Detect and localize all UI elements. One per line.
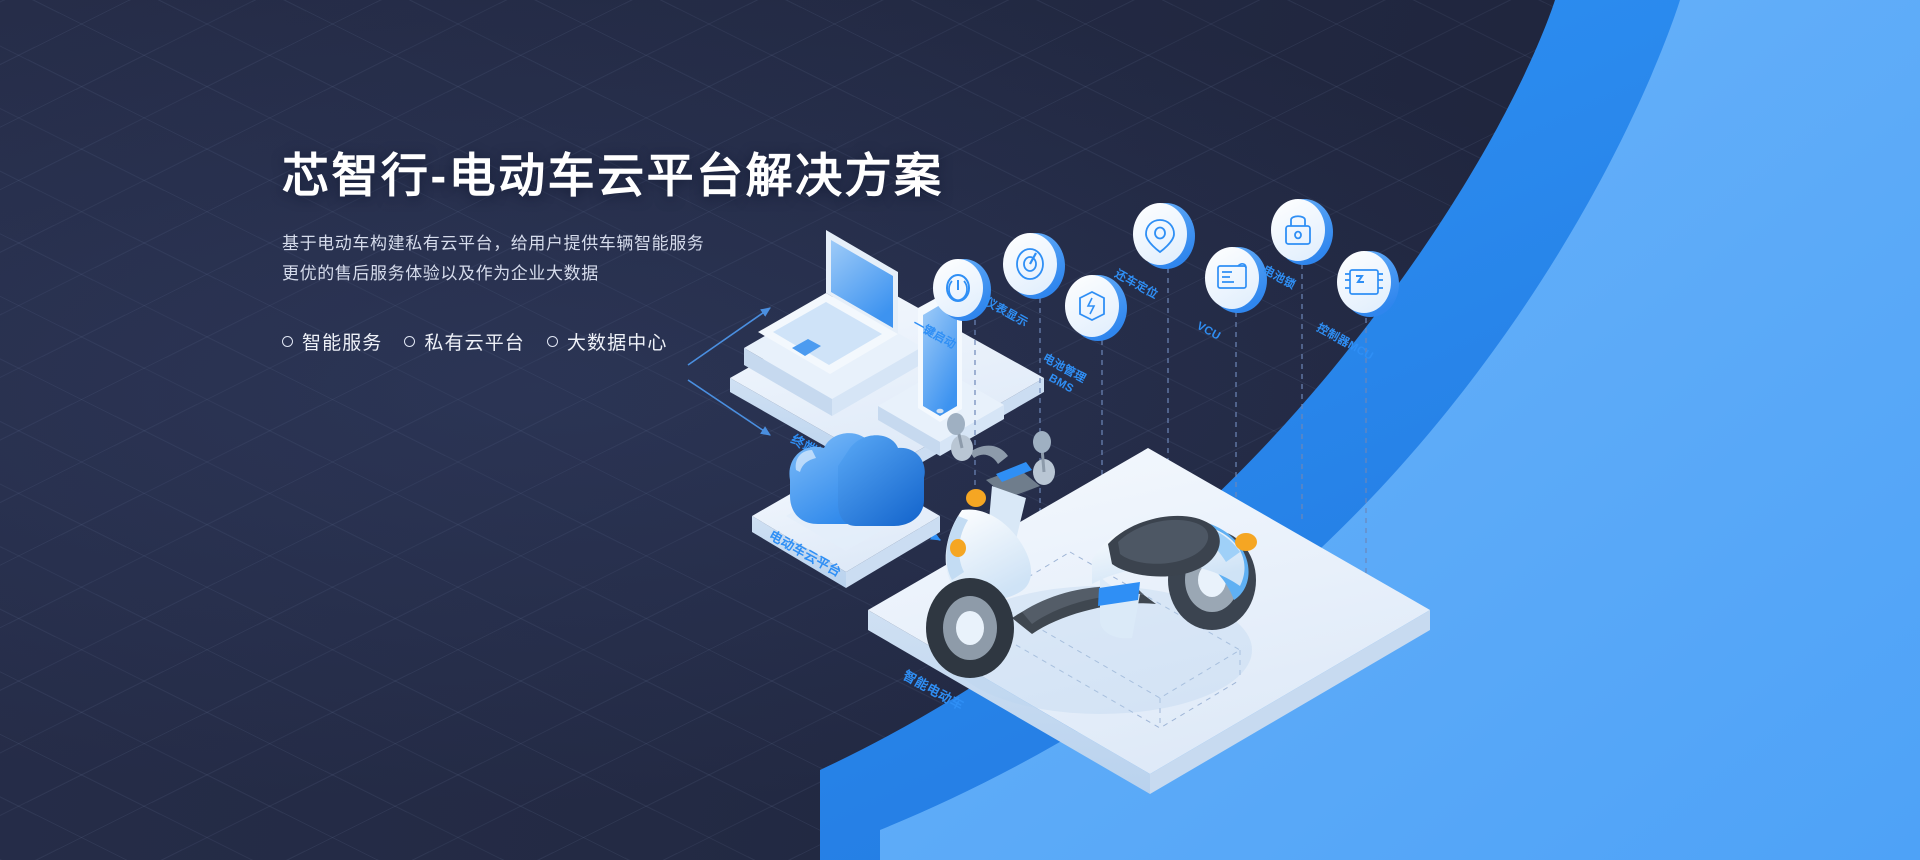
ring-icon xyxy=(404,336,415,347)
phone-home-button xyxy=(936,409,943,414)
feature-badge-dashboard[interactable]: 仪表显示 xyxy=(982,233,1065,330)
feature-tag-private-cloud: 私有云平台 xyxy=(404,328,525,355)
headlight xyxy=(966,489,986,507)
front-wheel xyxy=(926,578,1014,678)
feature-tag-label: 私有云平台 xyxy=(424,328,525,355)
feature-badge-vcu[interactable]: VCU xyxy=(1195,247,1267,343)
ring-icon xyxy=(547,336,558,347)
node-smart-vehicle: 智能电动车 xyxy=(868,413,1430,794)
feature-badge-location[interactable]: 还车定位 xyxy=(1112,203,1195,302)
ring-icon xyxy=(282,336,293,347)
feature-badge-bms[interactable]: 电池管理 BMS xyxy=(1041,275,1127,395)
tail-light xyxy=(1235,533,1257,551)
feature-badge-mcu[interactable]: 控制器MCU xyxy=(1315,251,1399,363)
feature-badge-battery-lock[interactable]: 电池锁 xyxy=(1261,199,1333,292)
feature-tag-label: 智能服务 xyxy=(302,328,382,355)
badge-label: 仪表显示 xyxy=(982,294,1031,330)
isometric-illustration: 终端设备 电动车云平台 xyxy=(640,180,1900,860)
node-cloud-platform: 电动车云平台 xyxy=(752,433,940,588)
feature-tag-smart-service: 智能服务 xyxy=(282,328,382,355)
badge-label: VCU xyxy=(1195,320,1223,343)
badge-label: 控制器MCU xyxy=(1315,320,1376,363)
turn-signal xyxy=(950,539,966,557)
phone-screen xyxy=(923,305,957,416)
hero-banner: 芯智行-电动车云平台解决方案 基于电动车构建私有云平台，给用户提供车辆智能服务 … xyxy=(0,0,1920,860)
